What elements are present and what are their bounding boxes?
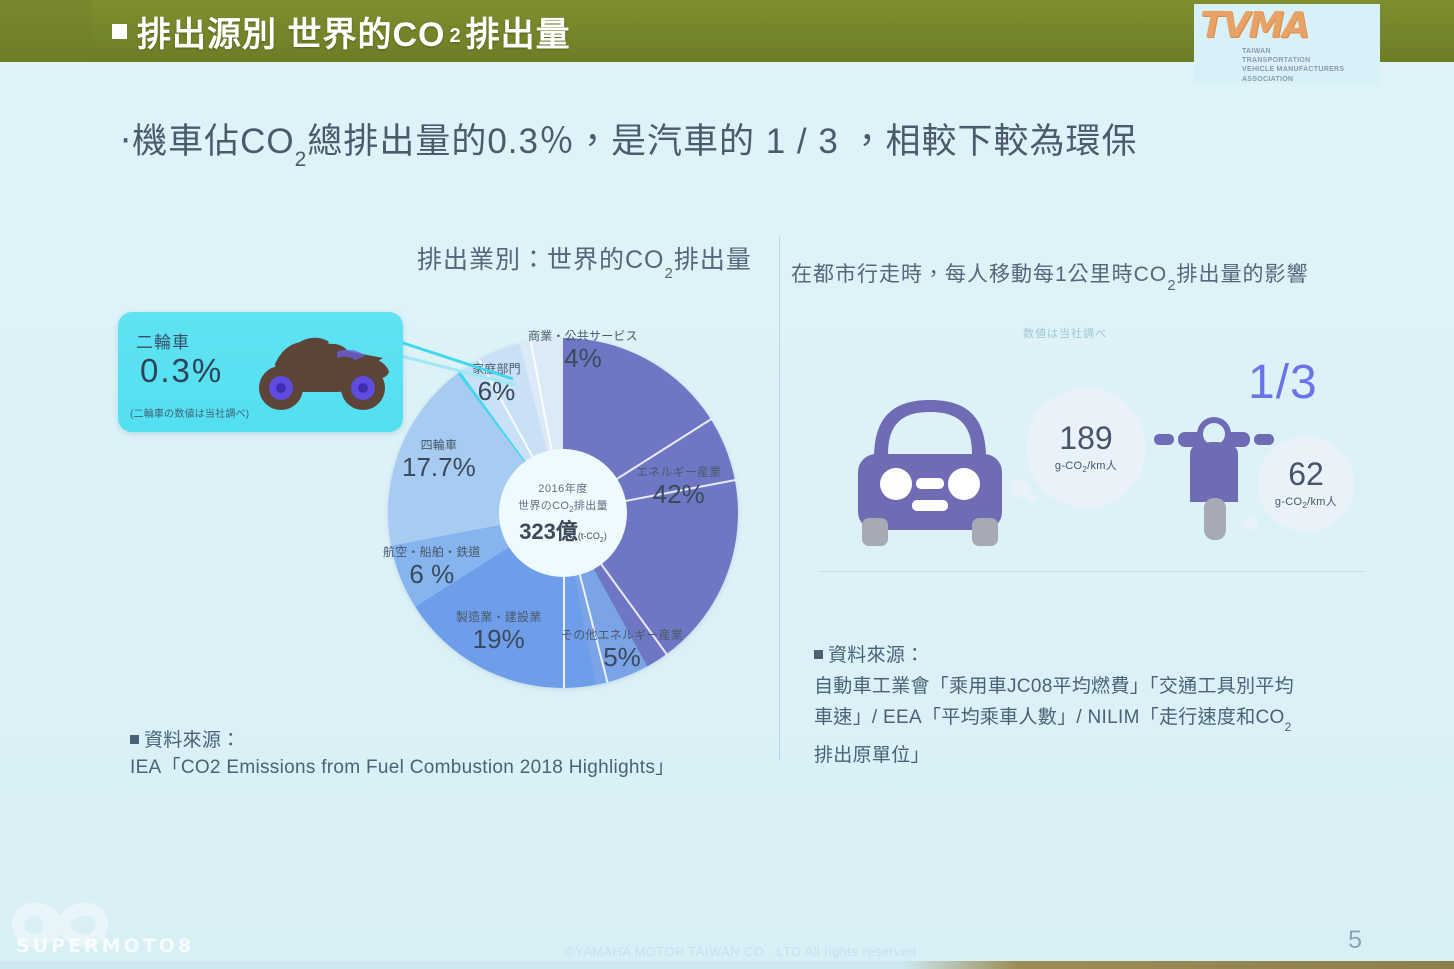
- pie-label-cars: 四輪車 17.7%: [402, 436, 476, 481]
- motorcycle-callout[interactable]: 二輪車 0.3% (二輪車の数値は当社調べ): [118, 312, 403, 432]
- page-title-subscript: 2: [449, 25, 461, 48]
- right-source-label: 資料來源：: [814, 640, 1374, 671]
- car-value: 189: [1059, 421, 1112, 455]
- pie-label-transport-value: 6 %: [383, 560, 481, 588]
- left-source-text: IEA「CO2 Emissions from Fuel Combustion 2…: [130, 754, 674, 781]
- left-source-note: 資料來源： IEA「CO2 Emissions from Fuel Combus…: [130, 727, 674, 781]
- pie-label-transport-name: 航空・船舶・鉄道: [383, 543, 481, 560]
- header-left-edge: [0, 0, 92, 62]
- pie-label-other-energy-value: 5%: [561, 643, 683, 671]
- slide: 排出源別 世界的CO2排出量 TVMA TAIWAN TRANSPORTATIO…: [0, 0, 1454, 969]
- pie-center-year: 2016年度: [538, 480, 587, 496]
- pie-center-unit-b: ): [604, 531, 607, 541]
- page-title: 排出源別 世界的CO2排出量: [112, 8, 571, 54]
- car-icon: [840, 380, 1020, 546]
- left-heading-sub: 2: [665, 265, 674, 282]
- pie-label-manufacturing-value: 19%: [456, 625, 541, 653]
- right-heading-a: 在都市行走時，每人移動每1公里時CO: [791, 263, 1167, 286]
- pie-center-caption: 世界のCO2排出量: [518, 497, 608, 514]
- pie-center-caption-b: 排出量: [574, 500, 608, 512]
- scooter-unit-b: /km人: [1307, 496, 1337, 508]
- tvma-logo-mark: TVMA: [1200, 7, 1380, 49]
- right-panel-underline: [820, 571, 1365, 572]
- right-source-line2: 車速」/ EEA「平均乘車人數」/ NILIM「走行速度和CO2: [814, 702, 1374, 740]
- car-unit-a: g-CO: [1055, 460, 1082, 472]
- tvma-logo-word: TVMA: [1200, 5, 1308, 46]
- car-unit-b: /km人: [1087, 460, 1117, 472]
- supermoto8-watermark-text: SUPERMOTO8: [16, 935, 194, 957]
- pie-label-commercial-value: 4%: [528, 344, 638, 372]
- subtitle: ‧機車佔CO2總排出量的0.3％，是汽車的 1 / 3 ，相較下較為環保: [120, 113, 1138, 167]
- page-number: 5: [1348, 926, 1362, 955]
- pie-label-commercial: 商業・公共サービス 4%: [528, 327, 638, 372]
- left-heading-b: 排出量: [674, 246, 752, 274]
- copyright-text: ©YAMAHA MOTOR TAIWAN CO., LTD All rights…: [565, 944, 916, 959]
- pie-label-other-energy: その他エネルギー産業 5%: [561, 626, 683, 671]
- page-title-tail: 排出量: [466, 7, 571, 56]
- car-bubble-dot: [1026, 492, 1036, 502]
- right-source-line2-a: 車速」/ EEA「平均乘車人數」/ NILIM「走行速度和CO: [814, 707, 1285, 728]
- callout-leader-line: [395, 333, 530, 393]
- callout-note: (二輪車の数値は当社調べ): [130, 405, 249, 420]
- subtitle-part1: ‧機車佔CO: [120, 122, 295, 161]
- right-heading-b: 排出量的影響: [1177, 263, 1309, 286]
- motorcycle-icon: [237, 334, 397, 420]
- pie-center-label: 2016年度 世界のCO2排出量 323億(t-CO2): [499, 449, 627, 577]
- tvma-logo-subtext: TAIWAN TRANSPORTATION VEHICLE MANUFACTUR…: [1242, 47, 1380, 84]
- tvma-logo-line2: TRANSPORTATION: [1242, 56, 1380, 65]
- callout-label: 二輪車: [136, 328, 190, 353]
- pie-label-energy-value: 42%: [636, 480, 721, 508]
- pie-label-manufacturing-name: 製造業・建設業: [456, 608, 541, 625]
- right-source-label-text: 資料來源：: [828, 645, 925, 666]
- tvma-logo-line3: VEHICLE MANUFACTURERS: [1242, 65, 1380, 74]
- scooter-unit: g-CO2/km人: [1275, 493, 1337, 510]
- source-bullet-icon: [130, 735, 139, 744]
- right-panel-heading: 在都市行走時，每人移動每1公里時CO2排出量的影響: [791, 258, 1309, 290]
- pie-label-cars-name: 四輪車: [402, 436, 476, 453]
- source-bullet-icon: [814, 650, 823, 659]
- pie-label-cars-value: 17.7%: [402, 453, 476, 481]
- right-source-line1: 自動車工業會「乘用車JC08平均燃費」「交通工具別平均: [814, 671, 1374, 702]
- pie-center-number: 323億: [519, 519, 578, 544]
- scooter-icon: [1154, 410, 1274, 540]
- scooter-unit-a: g-CO: [1275, 496, 1302, 508]
- car-unit: g-CO2/km人: [1055, 457, 1117, 474]
- pie-label-other-energy-name: その他エネルギー産業: [561, 626, 683, 643]
- pie-center-unit: (t-CO2): [578, 531, 607, 541]
- pie-label-energy-name: エネルギー産業: [636, 463, 721, 480]
- pie-label-commercial-name: 商業・公共サービス: [528, 327, 638, 344]
- tvma-logo: TVMA TAIWAN TRANSPORTATION VEHICLE MANUF…: [1194, 4, 1380, 84]
- page-title-text: 排出源別 世界的CO: [137, 7, 445, 56]
- pie-center-value: 323億(t-CO2): [519, 514, 607, 546]
- pie-center-caption-a: 世界のCO: [518, 500, 569, 512]
- pie-label-manufacturing: 製造業・建設業 19%: [456, 608, 541, 653]
- left-panel-heading: 排出業別：世界的CO2排出量: [417, 240, 752, 278]
- left-heading-a: 排出業別：世界的CO: [417, 246, 665, 274]
- right-source-line3: 排出原單位」: [814, 740, 1374, 771]
- right-source-line2-sub: 2: [1285, 720, 1292, 734]
- panel-divider: [779, 236, 780, 760]
- right-heading-sub: 2: [1167, 277, 1176, 294]
- bottom-strip: [0, 961, 1454, 969]
- tvma-logo-line4: ASSOCIATION: [1242, 75, 1380, 84]
- title-bullet-icon: [112, 24, 127, 39]
- subtitle-part2: 總排出量的0.3％，是汽車的 1 / 3 ，相較下較為環保: [307, 122, 1137, 161]
- pie-center-unit-a: (t-CO: [578, 531, 600, 541]
- left-source-label-text: 資料來源：: [144, 730, 241, 751]
- scooter-value: 62: [1288, 457, 1324, 491]
- callout-value: 0.3%: [140, 352, 223, 390]
- pie-label-energy: エネルギー産業 42%: [636, 463, 721, 508]
- pie-label-transport: 航空・船舶・鉄道 6 %: [383, 543, 481, 588]
- right-source-note: 資料來源： 自動車工業會「乘用車JC08平均燃費」「交通工具別平均 車速」/ E…: [814, 640, 1374, 771]
- vehicle-comparison: 189 g-CO2/km人 62 g-CO2/km人: [840, 330, 1380, 580]
- subtitle-subscript: 2: [295, 148, 308, 171]
- car-value-bubble: 189 g-CO2/km人: [1026, 388, 1146, 508]
- left-source-label: 資料來源：: [130, 727, 674, 754]
